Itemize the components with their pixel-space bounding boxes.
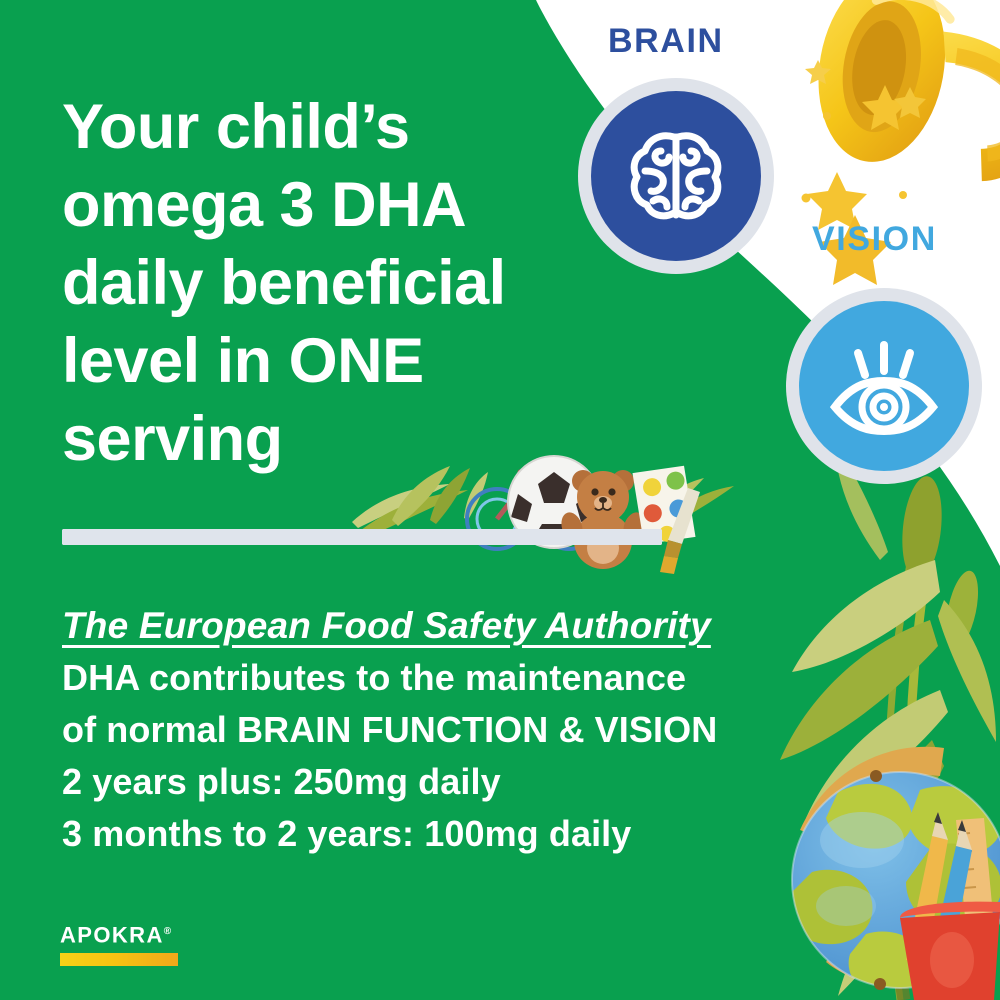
badge-disc [799,301,969,471]
logo-text: APOKRA [60,922,164,947]
headline-line: omega 3 DHA [62,166,582,244]
logo-bar [60,953,178,966]
badge-disc [591,91,761,261]
eye-icon [825,331,943,441]
body-line: of normal BRAIN FUNCTION & VISION [62,704,822,756]
brain-badge-label: BRAIN [608,22,724,61]
headline-line: serving [62,400,582,478]
body-line: 3 months to 2 years: 100mg daily [62,808,822,860]
brain-icon [621,121,731,231]
body-line: 2 years plus: 250mg daily [62,756,822,808]
brain-badge [578,78,774,274]
registered-mark-icon: ® [164,926,171,937]
logo-wordmark: APOKRA® [60,920,180,947]
apokra-logo: APOKRA® [60,920,180,966]
vision-badge-label: VISION [812,220,937,259]
headline-divider [62,529,662,545]
body-copy: The European Food Safety Authority DHA c… [62,600,822,860]
authority-line: The European Food Safety Authority [62,600,822,652]
headline-line: level in ONE [62,322,582,400]
promo-poster: Your child’s omega 3 DHA daily beneficia… [0,0,1000,1000]
headline-line: daily beneficial [62,244,582,322]
body-line: DHA contributes to the maintenance [62,652,822,704]
vision-badge [786,288,982,484]
headline-line: Your child’s [62,88,582,166]
page-title: Your child’s omega 3 DHA daily beneficia… [62,88,582,478]
